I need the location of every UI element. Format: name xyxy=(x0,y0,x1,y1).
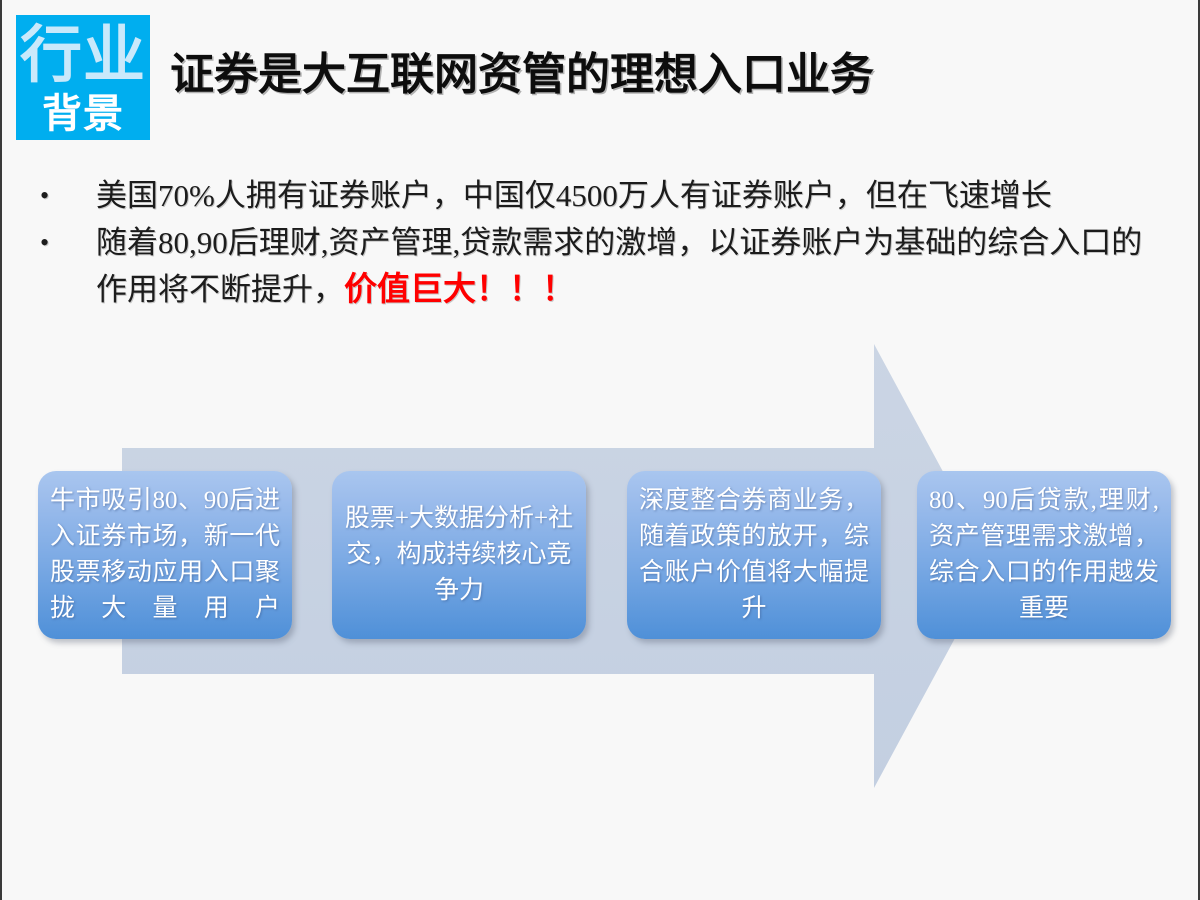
process-box-4[interactable]: 80、90后贷款,理财,资产管理需求激增，综合入口的作用越发重要 xyxy=(917,471,1171,639)
bullet-item-1: • 美国70%人拥有证券账户，中国仅4500万人有证券账户，但在飞速增长 xyxy=(40,172,1170,219)
process-box-4-label: 80、90后贷款,理财,资产管理需求激增，综合入口的作用越发重要 xyxy=(929,483,1159,627)
page-title: 证券是大互联网资管的理想入口业务 xyxy=(170,48,874,102)
bullet-list: • 美国70%人拥有证券账户，中国仅4500万人有证券账户，但在飞速增长 • 随… xyxy=(40,172,1170,314)
section-badge-line2: 背景 xyxy=(42,91,124,137)
bullet-text: 随着80,90后理财,资产管理,贷款需求的激增，以证券账户为基础的综合入口的作用… xyxy=(96,219,1170,314)
process-box-2-label: 股票+大数据分析+社交，构成持续核心竞争力 xyxy=(344,501,574,609)
slide-canvas: 行业 背景 证券是大互联网资管的理想入口业务 • 美国70%人拥有证券账户，中国… xyxy=(0,0,1200,900)
process-box-1[interactable]: 牛市吸引80、90后进入证券市场，新一代股票移动应用入口聚拢大量用户 xyxy=(38,471,292,639)
bullet-marker: • xyxy=(40,219,96,266)
bullet-item-2: • 随着80,90后理财,资产管理,贷款需求的激增，以证券账户为基础的综合入口的… xyxy=(40,219,1170,314)
process-box-3[interactable]: 深度整合券商业务，随着政策的放开，综合账户价值将大幅提升 xyxy=(627,471,881,639)
process-box-3-label: 深度整合券商业务，随着政策的放开，综合账户价值将大幅提升 xyxy=(639,483,869,627)
bullet-marker: • xyxy=(40,172,96,219)
section-badge: 行业 背景 xyxy=(16,15,150,140)
process-box-1-label: 牛市吸引80、90后进入证券市场，新一代股票移动应用入口聚拢大量用户 xyxy=(50,483,280,627)
bullet-text-main: 随着80,90后理财,资产管理,贷款需求的激增，以证券账户为基础的综合入口的作用… xyxy=(96,225,1142,307)
section-badge-line1: 行业 xyxy=(20,19,146,91)
process-box-2[interactable]: 股票+大数据分析+社交，构成持续核心竞争力 xyxy=(332,471,586,639)
bullet-emphasis: 价值巨大！！！ xyxy=(344,272,575,308)
bullet-text: 美国70%人拥有证券账户，中国仅4500万人有证券账户，但在飞速增长 xyxy=(96,172,1170,219)
